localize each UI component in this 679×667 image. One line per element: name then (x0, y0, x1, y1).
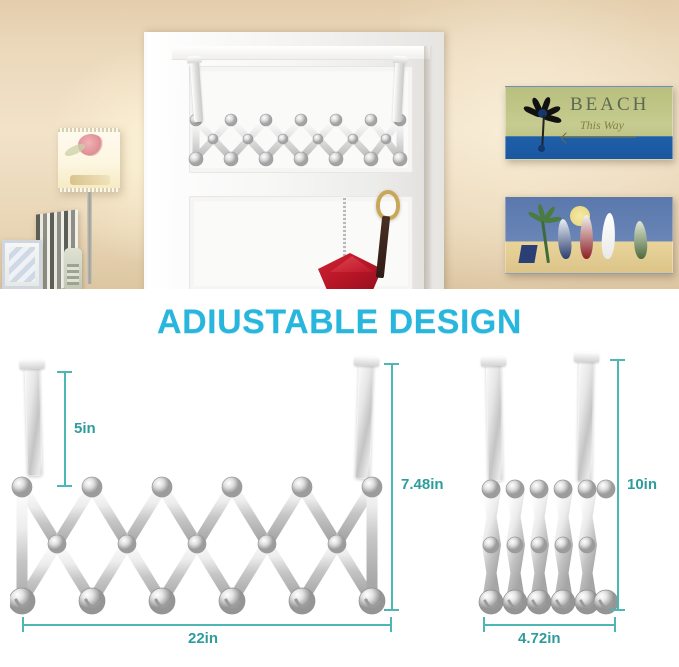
dim-10in-line (617, 359, 619, 611)
dim-22in-tick-left (22, 617, 24, 632)
dim-label-22in: 22in (185, 629, 221, 648)
dim-5in-tick-top (57, 371, 72, 373)
dim-472in-tick-left (483, 617, 485, 632)
accordion-lattice-photo (186, 60, 410, 210)
dim-label-472in: 4.72in (515, 629, 564, 648)
dim-472in-tick-right (614, 617, 616, 632)
hook-group-collapsed (479, 590, 618, 614)
over-door-arm-left-collapsed (486, 361, 503, 481)
lampshade-script-text (70, 175, 110, 185)
dim-5in-tick-bottom (57, 485, 72, 487)
dim-748in-tick-bottom (384, 609, 399, 611)
over-door-arm-right (355, 361, 374, 479)
surfboard-3 (601, 213, 616, 260)
dim-22in-tick-right (390, 617, 392, 632)
door-top-rail (172, 46, 430, 60)
hook-group (10, 588, 385, 614)
diagram-collapsed-rack: 10in 4.72in (420, 289, 679, 667)
diagram-expanded-rack: 5in 7.48in 22in (0, 289, 420, 667)
over-door-arm-left (25, 364, 43, 476)
dim-748in-tick-top (384, 363, 399, 365)
dim-label-5in: 5in (71, 419, 99, 438)
door-edge-shadow (424, 46, 433, 289)
beach-chair (518, 245, 537, 263)
accordion-lattice-collapsed (475, 471, 620, 623)
dim-472in-line (483, 624, 616, 626)
dim-10in-tick-bottom (610, 609, 625, 611)
beach-sign-line1: BEACH (570, 94, 649, 116)
surfboard-painting (505, 196, 673, 274)
lamp-pole (87, 192, 92, 284)
bag-chain-strap (343, 196, 346, 258)
dim-5in-line (64, 371, 66, 487)
cordless-phone (64, 248, 82, 289)
left-arrow-icon (562, 137, 636, 138)
surfboard-2 (580, 215, 593, 259)
product-infographic: BEACH This Way ADIUSTABLE DESIGN (0, 0, 679, 667)
dim-22in-line (22, 624, 392, 626)
dim-10in-tick-top (610, 359, 625, 361)
beach-sign-artwork: BEACH This Way (505, 86, 673, 160)
dim-748in-line (391, 363, 393, 611)
installed-hook-rack (186, 60, 410, 210)
lifestyle-photo: BEACH This Way (0, 0, 679, 289)
lampshade-trim-top (58, 128, 120, 132)
beach-sign-line2: This Way (580, 118, 624, 133)
table-lamp-shade (58, 128, 120, 192)
palm-tree-icon (522, 101, 566, 149)
picture-frame (2, 240, 42, 289)
dim-label-10in: 10in (624, 475, 660, 494)
over-door-arm-right-collapsed (577, 357, 594, 482)
accordion-lattice-expanded (10, 469, 400, 619)
surfboard-4 (633, 221, 648, 260)
